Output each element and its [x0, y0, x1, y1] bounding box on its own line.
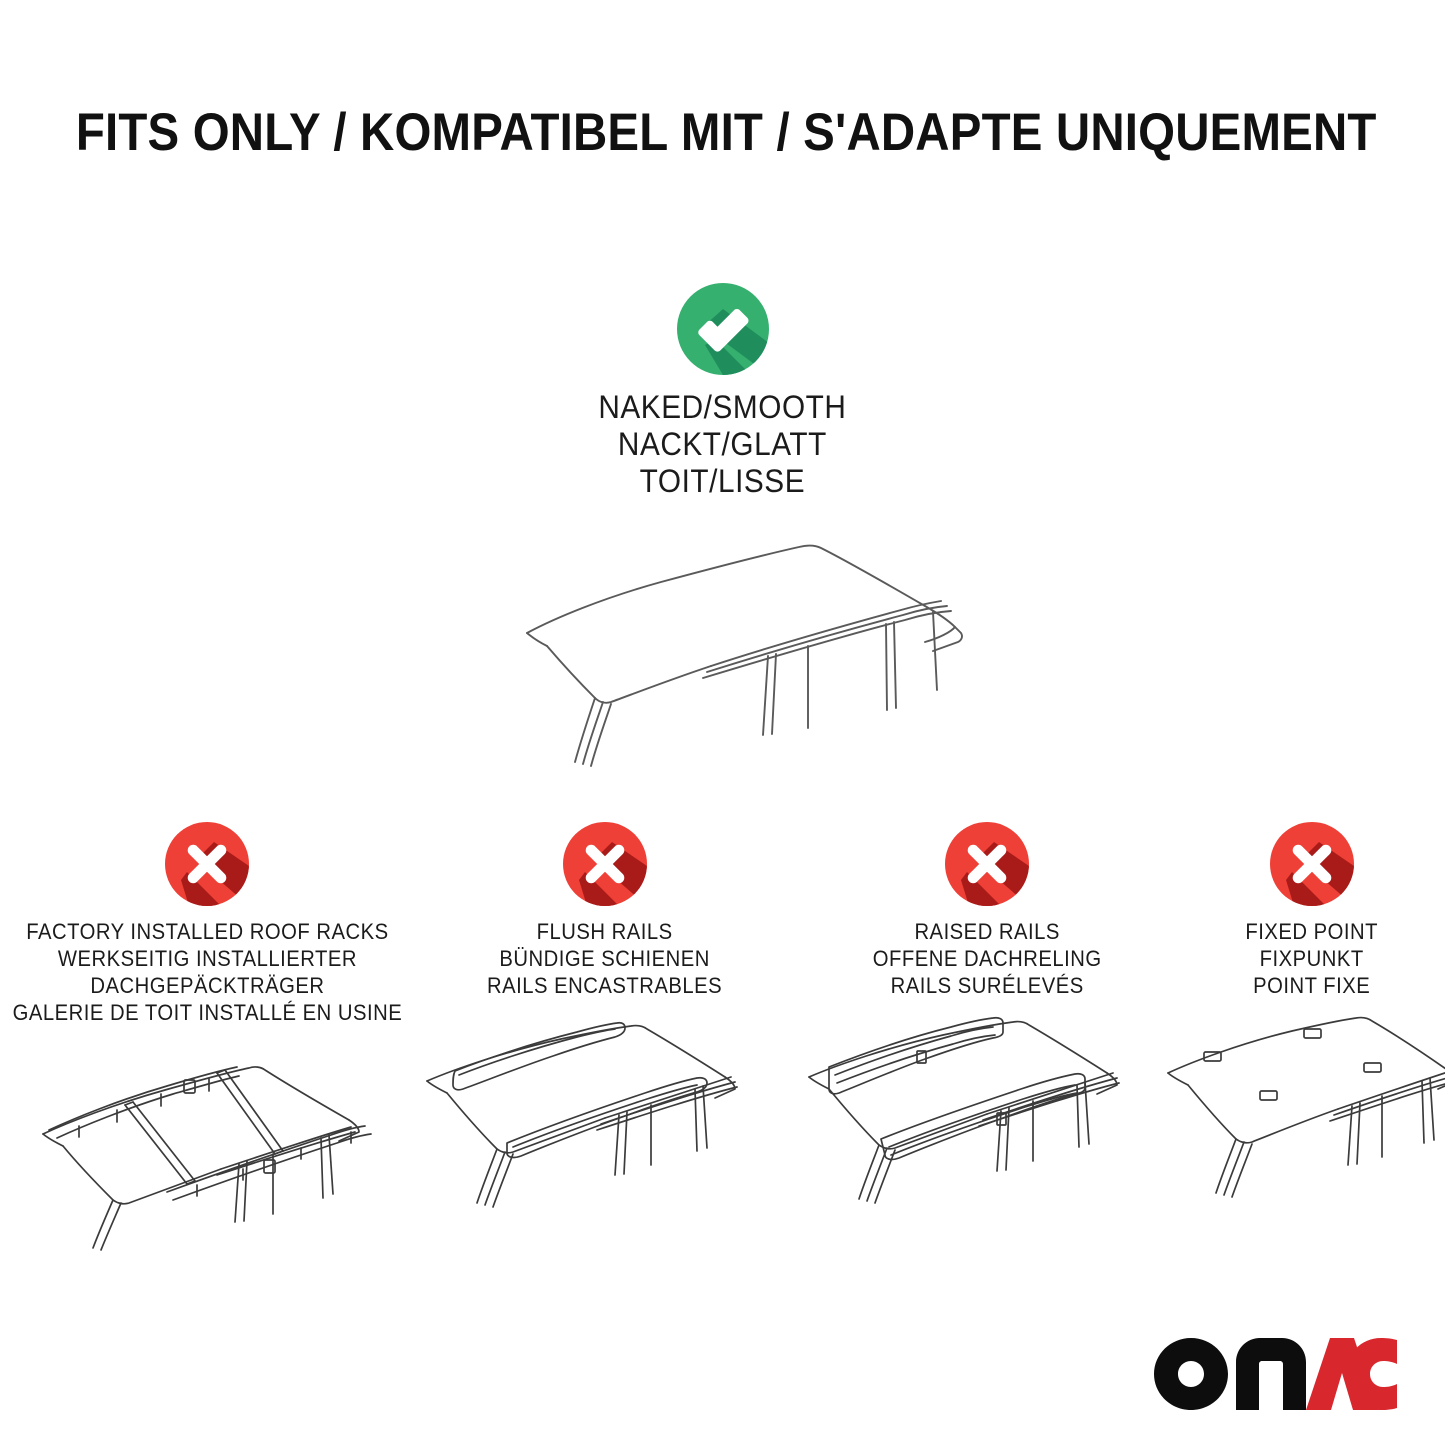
car-roof-fixed-point-illustration [1162, 1015, 1445, 1230]
caption-line-de: BÜNDIGE SCHIENEN [487, 945, 722, 972]
cross-mark [165, 822, 249, 906]
cross-circle-icon [165, 822, 249, 906]
caption-line-de: OFFENE DACHRELING [873, 945, 1102, 972]
approved-roof-type-block: NAKED/SMOOTH NACKT/GLATT TOIT/LISSE [0, 283, 1445, 775]
caption-line-de-1: WERKSEITIG INSTALLIERTER [12, 945, 402, 972]
reject-caption-raised-rails: RAISED RAILS OFFENE DACHRELING RAILS SUR… [873, 918, 1102, 999]
caption-line-en: FACTORY INSTALLED ROOF RACKS [12, 918, 402, 945]
car-roof-raised-rails-illustration [801, 1015, 1173, 1230]
reject-caption-factory-rack: FACTORY INSTALLED ROOF RACKS WERKSEITIG … [12, 918, 402, 1026]
reject-caption-flush-rails: FLUSH RAILS BÜNDIGE SCHIENEN RAILS ENCAS… [487, 918, 722, 999]
reject-column-flush-rails: FLUSH RAILS BÜNDIGE SCHIENEN RAILS ENCAS… [414, 822, 796, 1230]
car-roof-naked-smooth-illustration [463, 520, 983, 775]
caption-line-en: FLUSH RAILS [487, 918, 722, 945]
caption-line-fr: RAILS SURÉLEVÉS [873, 972, 1102, 999]
car-roof-factory-rack-illustration [21, 1042, 393, 1257]
cross-mark [945, 822, 1029, 906]
cross-mark [1270, 822, 1354, 906]
approved-caption-line-en: NAKED/SMOOTH [598, 389, 846, 426]
caption-line-de-2: DACHGEPÄCKTRÄGER [12, 972, 402, 999]
logo-letter-o [1154, 1338, 1228, 1410]
reject-column-fixed-point: FIXED POINT FIXPUNKT POINT FIXE [1178, 822, 1445, 1230]
reject-caption-fixed-point: FIXED POINT FIXPUNKT POINT FIXE [1245, 918, 1378, 999]
cross-circle-icon [945, 822, 1029, 906]
logo-letter-m [1236, 1338, 1306, 1410]
car-roof-flush-rails-illustration [419, 1015, 791, 1230]
incompatible-roof-types-row: FACTORY INSTALLED ROOF RACKS WERKSEITIG … [0, 822, 1445, 1257]
page-title: FITS ONLY / KOMPATIBEL MIT / S'ADAPTE UN… [76, 103, 1369, 163]
caption-line-fr: POINT FIXE [1245, 972, 1378, 999]
cross-circle-icon [1270, 822, 1354, 906]
compatibility-infographic: FITS ONLY / KOMPATIBEL MIT / S'ADAPTE UN… [0, 0, 1445, 1445]
omac-logo [1154, 1338, 1397, 1410]
caption-line-en: FIXED POINT [1245, 918, 1378, 945]
check-mark [677, 283, 769, 375]
reject-column-raised-rails: RAISED RAILS OFFENE DACHRELING RAILS SUR… [796, 822, 1178, 1230]
approved-caption: NAKED/SMOOTH NACKT/GLATT TOIT/LISSE [598, 389, 846, 500]
approved-caption-line-de: NACKT/GLATT [598, 426, 846, 463]
cross-mark [563, 822, 647, 906]
caption-line-de: FIXPUNKT [1245, 945, 1378, 972]
check-circle-icon [677, 283, 769, 375]
approved-caption-line-fr: TOIT/LISSE [598, 463, 846, 500]
reject-column-factory-rack: FACTORY INSTALLED ROOF RACKS WERKSEITIG … [0, 822, 414, 1257]
caption-line-en: RAISED RAILS [873, 918, 1102, 945]
caption-line-fr: GALERIE DE TOIT INSTALLÉ EN USINE [12, 999, 402, 1026]
caption-line-fr: RAILS ENCASTRABLES [487, 972, 722, 999]
cross-circle-icon [563, 822, 647, 906]
